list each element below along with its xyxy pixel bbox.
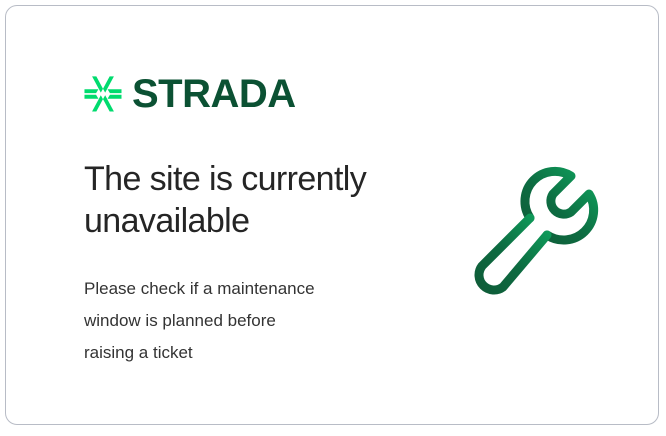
description-line: window is planned before [84, 305, 394, 337]
page-description: Please check if a maintenance window is … [84, 273, 394, 369]
error-page-card: STRADA The site is currently unavailable… [5, 5, 659, 425]
strada-asterisk-icon [84, 74, 122, 114]
description-line: Please check if a maintenance [84, 273, 394, 305]
brand-logo: STRADA [84, 74, 296, 114]
description-line: raising a ticket [84, 337, 394, 369]
page-title: The site is currently unavailable [84, 158, 424, 242]
brand-wordmark: STRADA [132, 74, 296, 114]
wrench-icon [461, 154, 621, 314]
